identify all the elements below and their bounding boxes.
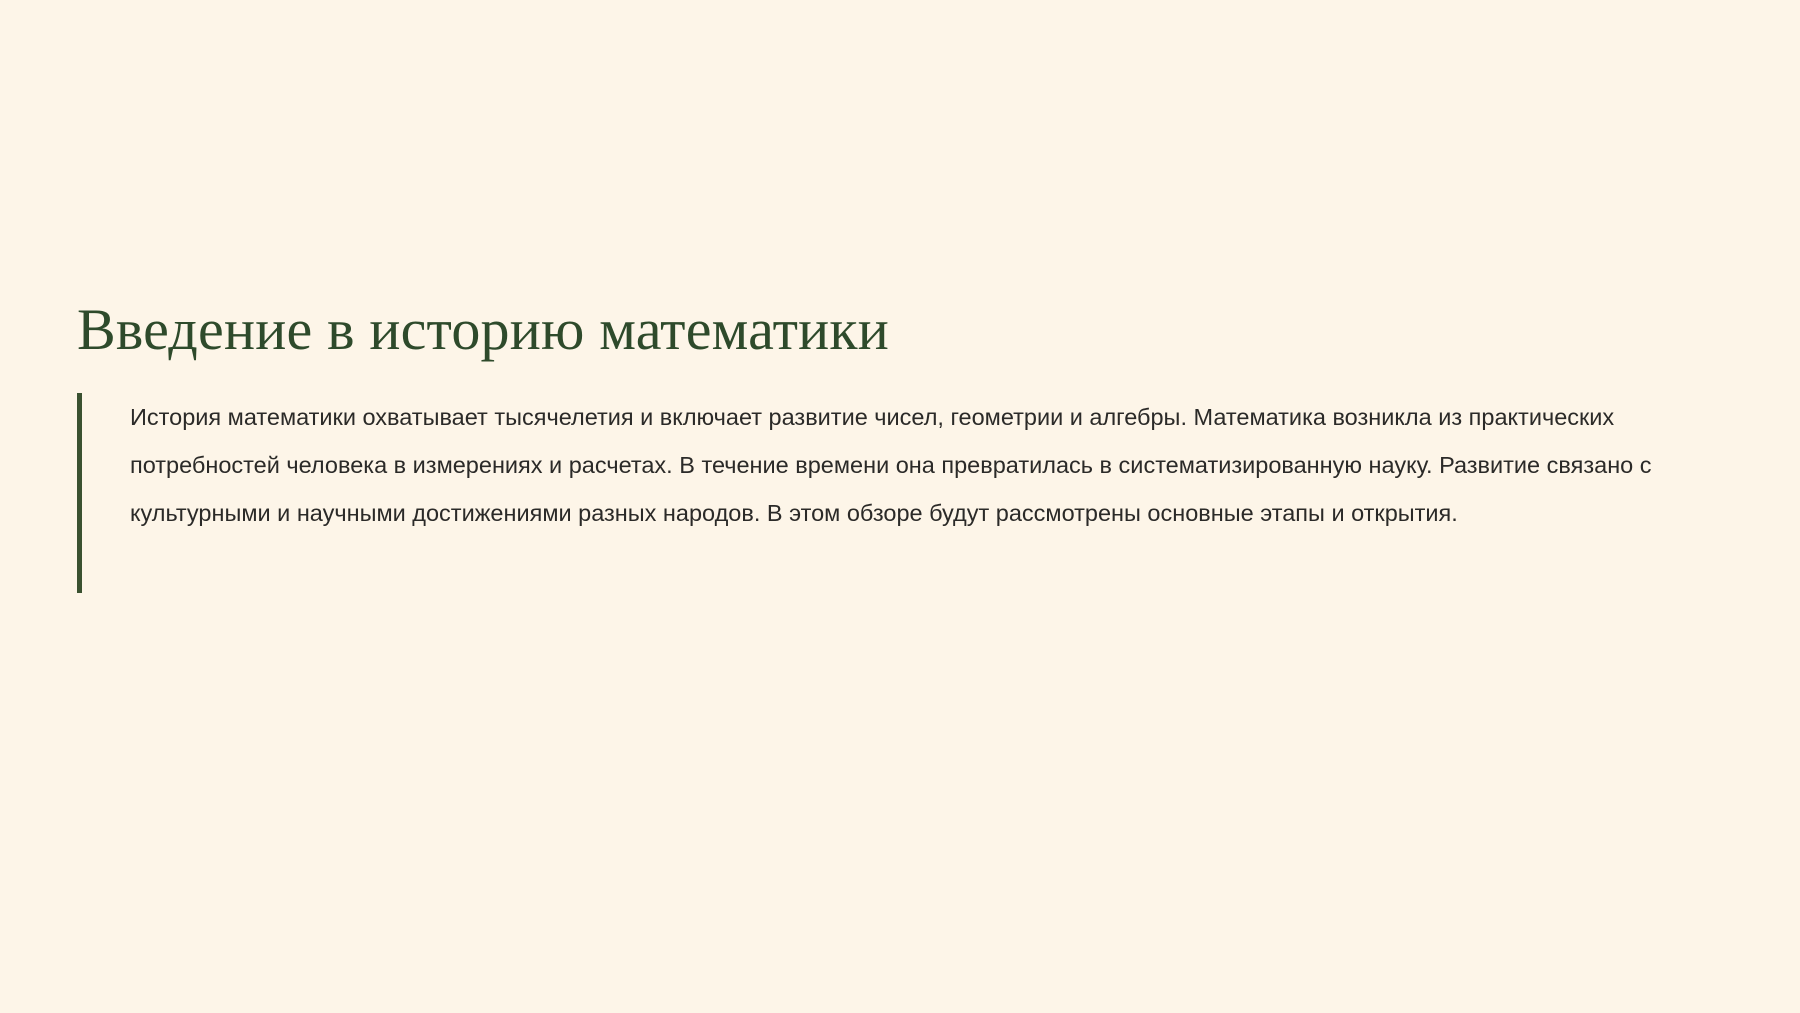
accent-bar — [77, 393, 82, 593]
intro-paragraph: История математики охватывает тысячелети… — [130, 393, 1730, 537]
page-title: Введение в историю математики — [77, 296, 1737, 364]
slide-canvas: Введение в историю математики История ма… — [0, 0, 1800, 1013]
slide-content: Введение в историю математики История ма… — [77, 296, 1737, 537]
quote-block: История математики охватывает тысячелети… — [77, 393, 1737, 537]
